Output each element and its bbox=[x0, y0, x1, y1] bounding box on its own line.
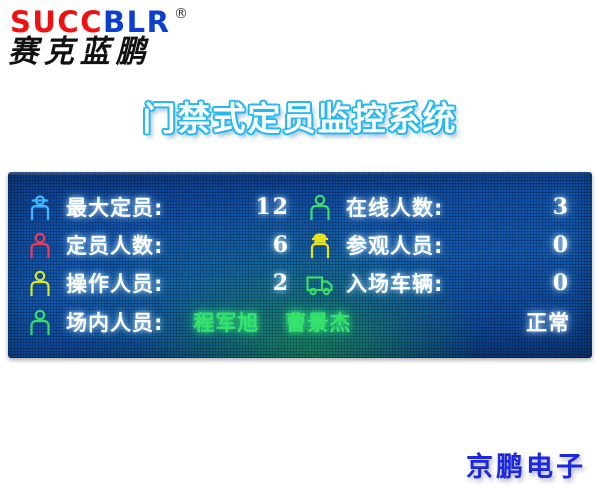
led-field-vehicle-count: 入场车辆: 0 bbox=[304, 264, 576, 302]
led-value: 6 bbox=[163, 232, 296, 258]
logo-chinese-name: 赛克蓝鹏 bbox=[8, 37, 152, 68]
person-hardhat-icon bbox=[304, 229, 336, 261]
person-icon bbox=[24, 229, 56, 261]
led-field-operator-count: 操作人员: 2 bbox=[24, 264, 296, 302]
led-field-online-count: 在线人数: 3 bbox=[304, 188, 576, 226]
led-row: 操作人员: 2 入场车辆: 0 bbox=[24, 264, 576, 302]
led-field-registered-count: 定员人数: 6 bbox=[24, 226, 296, 264]
onsite-personnel-names: 程军旭 曹景杰 bbox=[163, 307, 526, 337]
led-field-max-capacity: 最大定员: 12 bbox=[24, 188, 296, 226]
personnel-name: 曹景杰 bbox=[285, 307, 351, 337]
logo-wordmark: SUCCBLR bbox=[10, 8, 170, 37]
led-value: 0 bbox=[443, 232, 576, 258]
led-row: 定员人数: 6 参观人员: 0 bbox=[24, 226, 576, 264]
status-badge: 正常 bbox=[526, 307, 576, 337]
led-label: 在线人数: bbox=[346, 192, 443, 222]
led-label: 参观人员: bbox=[346, 230, 443, 260]
led-label: 定员人数: bbox=[66, 230, 163, 260]
person-cap-icon bbox=[24, 191, 56, 223]
led-value: 12 bbox=[163, 194, 296, 220]
led-value: 2 bbox=[163, 270, 296, 296]
person-icon bbox=[24, 306, 56, 338]
led-row: 最大定员: 12 在线人数: 3 bbox=[24, 188, 576, 226]
led-rows-container: 最大定员: 12 在线人数: 3 bbox=[8, 172, 592, 358]
led-label: 操作人员: bbox=[66, 268, 163, 298]
person-icon bbox=[304, 191, 336, 223]
registered-trademark-icon: ® bbox=[174, 6, 188, 22]
led-value: 3 bbox=[443, 194, 576, 220]
footer-brand: 京鹏电子 bbox=[466, 445, 586, 484]
led-field-visitor-count: 参观人员: 0 bbox=[304, 226, 576, 264]
led-label: 场内人员: bbox=[66, 307, 163, 337]
led-label: 最大定员: bbox=[66, 192, 163, 222]
brand-logo: SUCCBLR ® 赛克蓝鹏 bbox=[8, 4, 238, 74]
personnel-name: 程军旭 bbox=[193, 307, 259, 337]
page-title: 门禁式定员监控系统 bbox=[0, 92, 600, 140]
led-field-onsite-personnel: 场内人员: 程军旭 曹景杰 正常 bbox=[24, 302, 576, 342]
truck-icon bbox=[304, 267, 336, 299]
led-display-panel: 最大定员: 12 在线人数: 3 bbox=[8, 172, 592, 358]
person-icon bbox=[24, 267, 56, 299]
led-value: 0 bbox=[443, 270, 576, 296]
led-label: 入场车辆: bbox=[346, 268, 443, 298]
